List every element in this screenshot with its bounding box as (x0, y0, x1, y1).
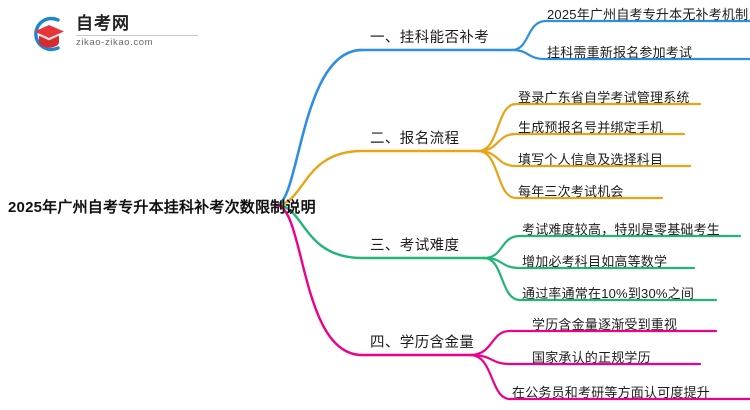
leaf-node-4-3[interactable]: 在公务员和考研等方面认可度提升 (512, 382, 710, 401)
mindmap-root-node[interactable]: 2025年广州自考专升本挂科补考次数限制说明 (8, 196, 316, 217)
leaf-node-2-2[interactable]: 生成预报名号并绑定手机 (518, 117, 663, 136)
leaf-node-1-1[interactable]: 2025年广州自考专升本无补考机制 (547, 4, 748, 23)
mindmap-canvas: 自考网 zikao-zikao.com 2025年广州自考 (0, 0, 750, 410)
leaf-node-3-3[interactable]: 通过率通常在10%到30%之间 (522, 283, 694, 302)
leaf-node-2-3[interactable]: 填写个人信息及选择科目 (518, 149, 663, 168)
branch-node-1[interactable]: 一、挂科能否补考 (370, 26, 489, 47)
branch-node-4[interactable]: 四、学历含金量 (370, 331, 474, 352)
leaf-node-4-1[interactable]: 学历含金量逐渐受到重视 (532, 314, 677, 333)
branch-node-3[interactable]: 三、考试难度 (370, 234, 459, 255)
site-logo: 自考网 zikao-zikao.com (28, 12, 228, 56)
leaf-node-3-1[interactable]: 考试难度较高，特别是零基础考生 (522, 219, 720, 238)
logo-divider (76, 35, 198, 36)
logo-wordmark: 自考网 zikao-zikao.com (76, 14, 198, 49)
leaf-node-2-4[interactable]: 每年三次考试机会 (518, 181, 624, 200)
graduation-cap-icon (28, 14, 70, 54)
branch-node-2[interactable]: 二、报名流程 (370, 127, 459, 148)
leaf-node-3-2[interactable]: 增加必考科目如高等数学 (522, 251, 667, 270)
leaf-node-2-1[interactable]: 登录广东省自学考试管理系统 (518, 87, 690, 106)
logo-name-cn: 自考网 (76, 14, 198, 34)
logo-domain: zikao-zikao.com (76, 37, 198, 49)
leaf-node-4-2[interactable]: 国家承认的正规学历 (532, 347, 651, 366)
leaf-node-1-2[interactable]: 挂科需重新报名参加考试 (547, 42, 692, 61)
